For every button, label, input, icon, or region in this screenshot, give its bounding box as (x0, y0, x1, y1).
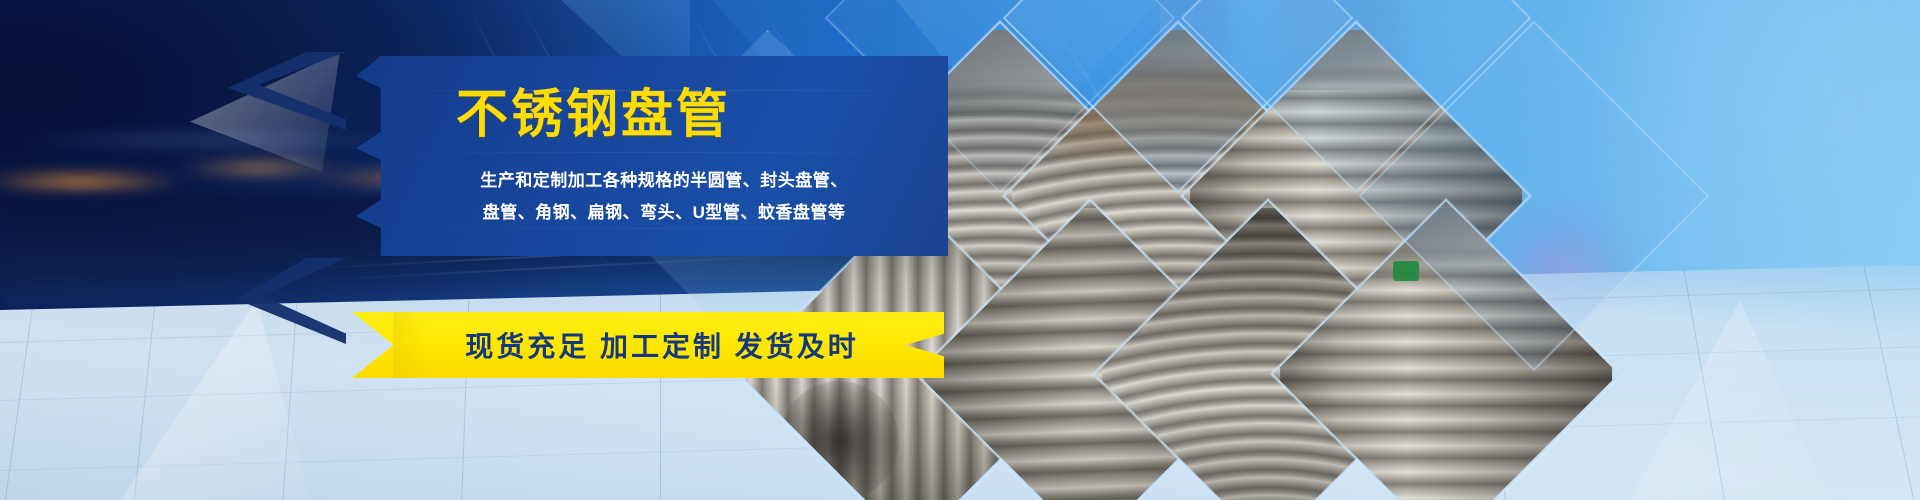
promo-banner: 不锈钢盘管 生产和定制加工各种规格的半圆管、封头盘管、 盘管、角钢、扁钢、弯头、… (0, 0, 1920, 500)
headline-panel: 不锈钢盘管 生产和定制加工各种规格的半圆管、封头盘管、 盘管、角钢、扁钢、弯头、… (356, 56, 948, 256)
ribbon-text: 现货充足 加工定制 发货及时 (352, 312, 944, 378)
highlights-ribbon: 现货充足 加工定制 发货及时 (352, 312, 944, 378)
panel-subtitle-line-2: 盘管、角钢、扁钢、弯头、U型管、蚊香盘管等 (414, 198, 914, 223)
panel-subtitle-line-1: 生产和定制加工各种规格的半圆管、封头盘管、 (414, 166, 914, 191)
page-title: 不锈钢盘管 (456, 89, 731, 141)
